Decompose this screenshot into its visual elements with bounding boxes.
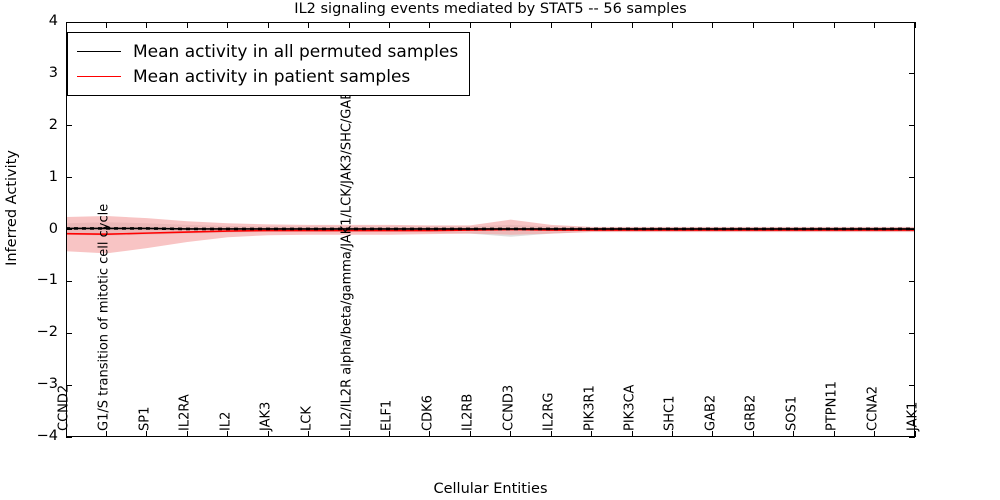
y-tick-label: −1	[14, 272, 58, 288]
legend-line-swatch-red	[77, 76, 121, 77]
y-tick-label: 3	[14, 65, 58, 81]
y-tick-label: 4	[14, 13, 58, 29]
y-tick-label: −3	[14, 376, 58, 392]
x-tick-label: GAB2	[704, 395, 717, 431]
x-tick-label: JAK3	[260, 402, 273, 431]
x-tick-label: PIK3CA	[624, 385, 637, 431]
x-tick-label: IL2RG	[543, 393, 556, 431]
x-tick-label: IL2RB	[462, 394, 475, 431]
legend-item-permuted[interactable]: Mean activity in all permuted samples	[77, 39, 458, 64]
legend-label-permuted: Mean activity in all permuted samples	[133, 42, 458, 62]
chart-legend[interactable]: Mean activity in all permuted samples Me…	[67, 32, 470, 96]
x-tick-label: GRB2	[745, 395, 758, 431]
y-tick-label: −2	[14, 324, 58, 340]
y-tick-label: −4	[14, 428, 58, 444]
y-tick-label: 1	[14, 169, 58, 185]
x-tick-label: SOS1	[785, 396, 798, 431]
x-tick-label: IL2	[219, 412, 232, 431]
x-tick-label: CCND2	[58, 385, 71, 431]
x-tick-label: JAK1	[907, 402, 920, 431]
legend-line-swatch-black	[77, 51, 121, 52]
x-tick-label: IL2/IL2R alpha/beta/gamma/JAK1/LCK/JAK3/…	[341, 83, 354, 431]
y-tick-label: 0	[14, 221, 58, 237]
x-tick-label: CCNA2	[866, 386, 879, 431]
figure-canvas: IL2 signaling events mediated by STAT5 -…	[0, 0, 1000, 500]
y-tick-label: 2	[14, 117, 58, 133]
x-axis-label: Cellular Entities	[66, 481, 915, 497]
x-tick-label: SHC1	[664, 396, 677, 431]
x-tick-label: PIK3R1	[583, 385, 596, 431]
x-tick-label: IL2RA	[179, 394, 192, 431]
chart-title: IL2 signaling events mediated by STAT5 -…	[66, 1, 915, 17]
x-tick-label: G1/S transition of mitotic cell cycle	[98, 204, 111, 431]
x-tick-label: CCND3	[502, 385, 515, 431]
x-tick-label: PTPN11	[826, 381, 839, 431]
legend-item-patient[interactable]: Mean activity in patient samples	[77, 64, 458, 89]
x-tick-label: SP1	[138, 407, 151, 431]
y-axis-tick-labels: −4−3−2−101234	[14, 22, 58, 437]
x-tick-label: CDK6	[421, 395, 434, 431]
legend-label-patient: Mean activity in patient samples	[133, 67, 410, 87]
x-tick-label: ELF1	[381, 400, 394, 431]
x-tick-label: LCK	[300, 406, 313, 431]
